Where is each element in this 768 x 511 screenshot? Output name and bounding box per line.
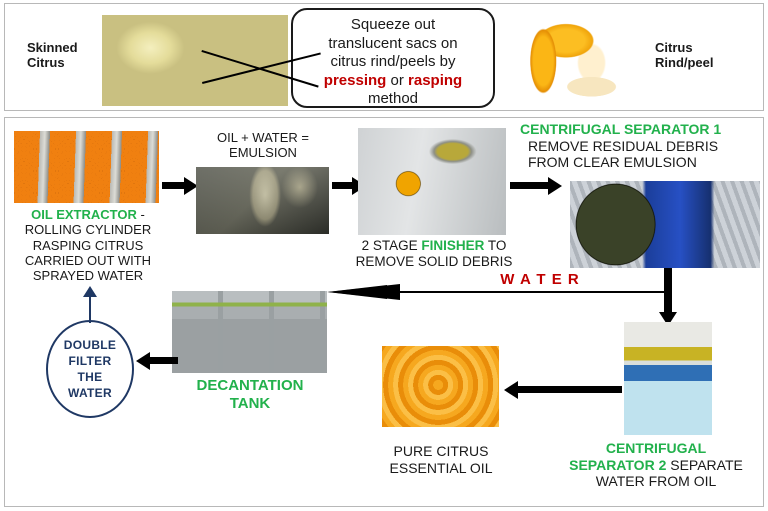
arrow-finisher-to-separator1-head bbox=[548, 177, 562, 195]
emulsion-photo bbox=[196, 167, 329, 234]
oil-extractor-caption-line1: OIL EXTRACTOR - bbox=[4, 207, 172, 222]
separator2-green-text: SEPARATOR 2 bbox=[569, 457, 666, 473]
skinned-citrus-photo bbox=[102, 15, 288, 106]
separator1-caption: CENTRIFUGAL SEPARATOR 1 REMOVE RESIDUAL … bbox=[520, 121, 764, 171]
separator1-green-title: CENTRIFUGAL SEPARATOR 1 bbox=[520, 121, 764, 138]
separator1-caption-line3: FROM CLEAR EMULSION bbox=[520, 154, 764, 171]
finisher-caption-line2: REMOVE SOLID DEBRIS bbox=[330, 254, 538, 270]
callout-pressing-word: pressing bbox=[324, 72, 387, 89]
squeeze-out-callout: Squeeze out translucent sacs on citrus r… bbox=[291, 8, 495, 108]
oil-extractor-green-text: OIL EXTRACTOR bbox=[31, 207, 137, 222]
separator2-caption-line3: WATER FROM OIL bbox=[548, 473, 764, 490]
finisher-caption-suffix: TO bbox=[484, 238, 506, 253]
arrow-separator2-to-pure-oil bbox=[518, 386, 622, 393]
emulsion-title-line2: EMULSION bbox=[190, 145, 336, 160]
filter-line3: THE bbox=[78, 369, 103, 385]
arrow-decantation-to-filter-head bbox=[136, 352, 150, 370]
arrow-finisher-to-separator1 bbox=[510, 182, 548, 189]
decantation-tank-photo bbox=[172, 291, 327, 373]
arrow-emulsion-to-finisher bbox=[332, 182, 352, 189]
separator2-caption-line1: CENTRIFUGAL bbox=[548, 440, 764, 457]
citrus-peel-photo bbox=[495, 15, 637, 107]
skinned-citrus-label-line2: Citrus bbox=[27, 55, 99, 70]
decantation-caption-line2: TANK bbox=[166, 395, 334, 413]
callout-or-word: or bbox=[386, 72, 408, 89]
separator2-black-text: SEPARATE bbox=[666, 457, 743, 473]
callout-line-1: Squeeze out bbox=[293, 16, 493, 35]
oil-extractor-caption-line2: ROLLING CYLINDER bbox=[4, 222, 172, 237]
filter-line2: FILTER bbox=[69, 353, 112, 369]
separator1-photo bbox=[570, 181, 760, 268]
citrus-rind-label-line2: Rind/peel bbox=[655, 55, 755, 70]
emulsion-title-line1: OIL + WATER = bbox=[190, 130, 336, 145]
pure-citrus-oil-caption: PURE CITRUS ESSENTIAL OIL bbox=[370, 443, 512, 476]
arrow-filter-to-extractor-head bbox=[83, 286, 97, 297]
callout-rasping-word: rasping bbox=[408, 72, 462, 89]
arrow-filter-to-extractor bbox=[89, 295, 91, 323]
double-filter-the-water-node: DOUBLE FILTER THE WATER bbox=[46, 320, 134, 418]
arrow-extractor-to-emulsion bbox=[162, 182, 184, 189]
top-panel: Skinned Citrus Squeeze out translucent s… bbox=[4, 3, 764, 111]
pure-oil-caption-line1: PURE CITRUS bbox=[370, 443, 512, 460]
arrow-separator2-to-pure-oil-head bbox=[504, 381, 518, 399]
pure-citrus-oil-photo bbox=[382, 346, 499, 427]
decantation-inflow-arrowhead bbox=[327, 285, 387, 299]
skinned-citrus-label-line1: Skinned bbox=[27, 40, 99, 55]
separator2-caption-line2: SEPARATOR 2 SEPARATE bbox=[548, 457, 764, 474]
callout-line-4: pressing or rasping bbox=[293, 72, 493, 91]
oil-extractor-dash: - bbox=[137, 207, 145, 222]
pure-oil-caption-line2: ESSENTIAL OIL bbox=[370, 460, 512, 477]
callout-line-5: method bbox=[293, 90, 493, 109]
oil-extractor-caption-line3: RASPING CITRUS bbox=[4, 238, 172, 253]
oil-extractor-caption: OIL EXTRACTOR - ROLLING CYLINDER RASPING… bbox=[4, 207, 172, 284]
callout-line-2: translucent sacs on bbox=[293, 35, 493, 54]
filter-line1: DOUBLE bbox=[64, 337, 116, 353]
finisher-photo bbox=[358, 128, 506, 235]
separator2-photo bbox=[624, 322, 712, 435]
filter-line4: WATER bbox=[68, 385, 112, 401]
water-line-horizontal bbox=[400, 291, 668, 293]
emulsion-title: OIL + WATER = EMULSION bbox=[190, 130, 336, 161]
finisher-caption: 2 STAGE FINISHER TO REMOVE SOLID DEBRIS bbox=[330, 238, 538, 270]
finisher-caption-prefix: 2 STAGE bbox=[362, 238, 422, 253]
decantation-tank-caption: DECANTATION TANK bbox=[166, 377, 334, 412]
decantation-caption-line1: DECANTATION bbox=[166, 377, 334, 395]
citrus-rind-peel-label: Citrus Rind/peel bbox=[655, 40, 755, 71]
water-stream-label: W A T E R bbox=[470, 271, 610, 289]
oil-extractor-caption-line4: CARRIED OUT WITH bbox=[4, 253, 172, 268]
oil-extractor-caption-line5: SPRAYED WATER bbox=[4, 268, 172, 283]
finisher-caption-line1: 2 STAGE FINISHER TO bbox=[330, 238, 538, 254]
separator2-caption: CENTRIFUGAL SEPARATOR 2 SEPARATE WATER F… bbox=[548, 440, 764, 490]
arrow-decantation-to-filter bbox=[150, 357, 178, 364]
skinned-citrus-label: Skinned Citrus bbox=[27, 40, 99, 71]
water-line-vertical bbox=[667, 268, 669, 292]
oil-extractor-photo bbox=[14, 131, 159, 203]
callout-line-3: citrus rind/peels by bbox=[293, 53, 493, 72]
finisher-green-text: FINISHER bbox=[421, 238, 484, 253]
separator1-caption-line2: REMOVE RESIDUAL DEBRIS bbox=[520, 138, 764, 155]
process-flow-diagram: Skinned Citrus Squeeze out translucent s… bbox=[0, 0, 768, 511]
citrus-rind-label-line1: Citrus bbox=[655, 40, 755, 55]
